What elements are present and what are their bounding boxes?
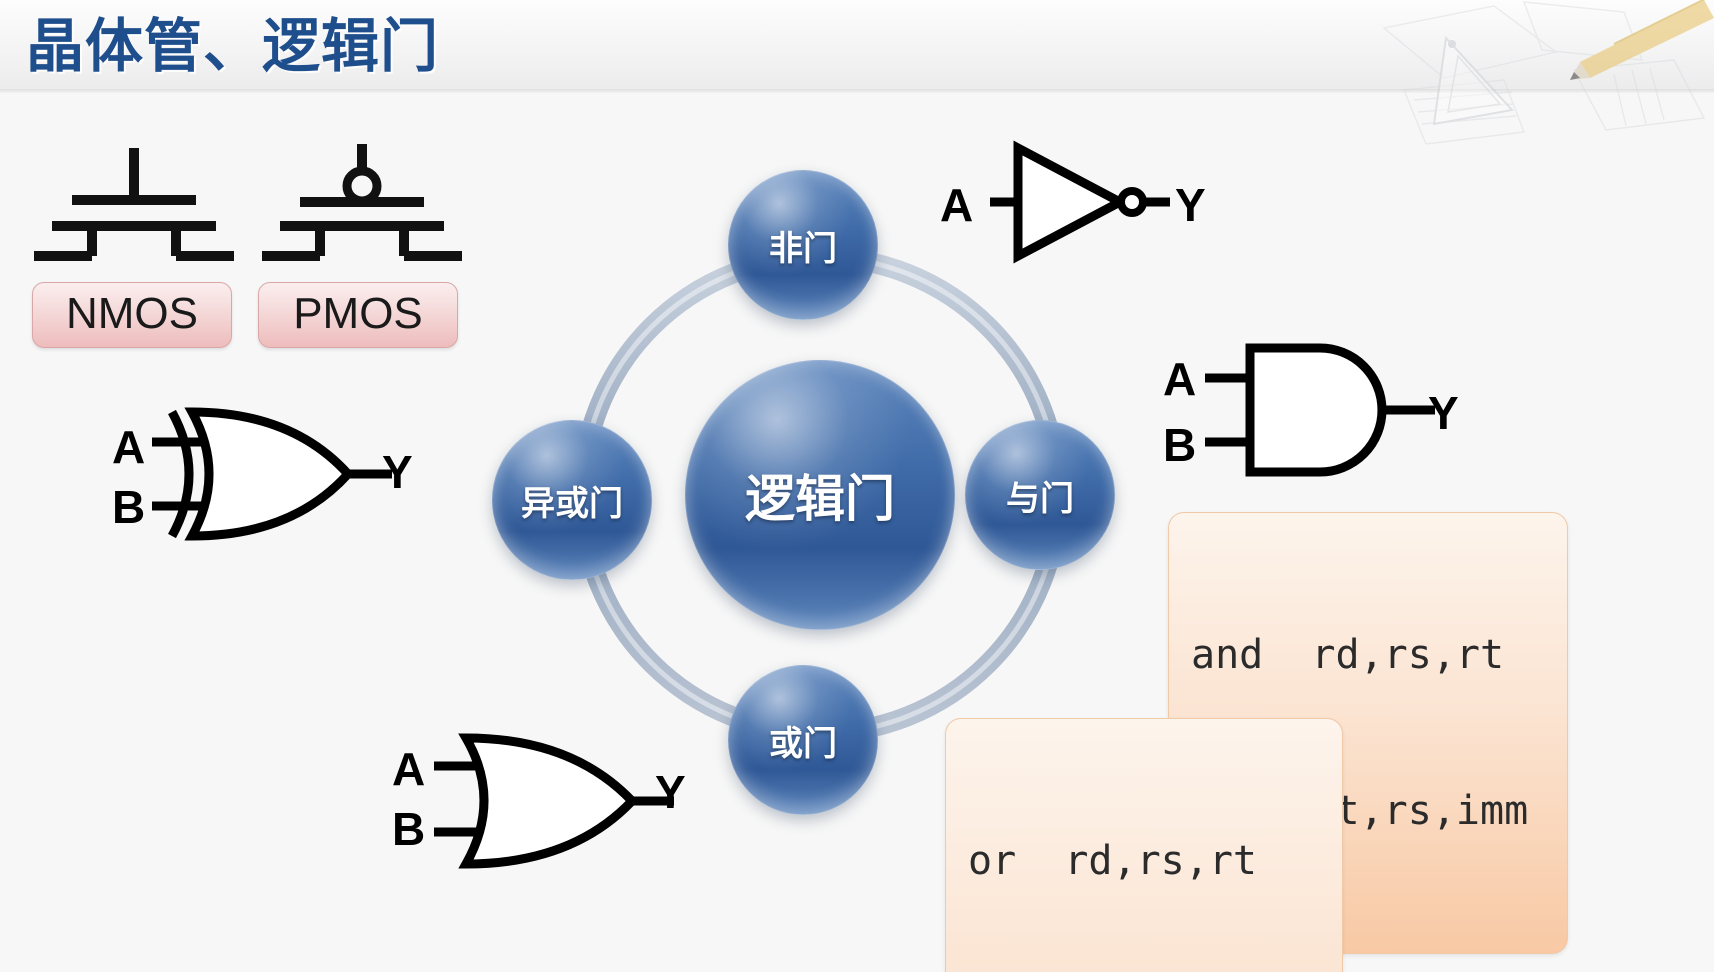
or-gate-output-y-label: Y — [655, 765, 686, 819]
nmos-label-chip: NMOS — [32, 282, 232, 348]
radial-node-not-label: 非门 — [769, 221, 837, 270]
xor-gate-input-a-label: A — [112, 420, 145, 474]
radial-node-not-gate[interactable]: 非门 — [728, 170, 878, 320]
not-gate-icon — [990, 140, 1170, 265]
xor-gate-input-b-label: B — [112, 480, 145, 534]
and-gate-input-a-label: A — [1163, 352, 1196, 406]
radial-node-or-label: 或门 — [769, 716, 837, 765]
radial-node-and-label: 与门 — [1006, 471, 1074, 520]
radial-node-xor-label: 异或门 — [521, 476, 623, 525]
not-gate-output-y-label: Y — [1175, 178, 1206, 232]
radial-node-or-gate[interactable]: 或门 — [728, 665, 878, 815]
xor-gate-output-y-label: Y — [382, 445, 413, 499]
pmos-label-chip: PMOS — [258, 282, 458, 348]
slide-header: 晶体管、逻辑门 — [0, 0, 1714, 92]
or-gate-icon — [434, 728, 674, 873]
not-gate-input-a-label: A — [940, 178, 973, 232]
or-gate-input-b-label: B — [392, 802, 425, 856]
and-gate-icon — [1205, 338, 1435, 488]
header-accent-rule — [0, 89, 1714, 93]
and-instruction-line-1: and rd,rs,rt — [1191, 629, 1545, 681]
pmos-transistor-symbol-icon — [258, 140, 468, 275]
slide-canvas: 晶体管、逻辑门 — [0, 0, 1714, 972]
radial-node-and-gate[interactable]: 与门 — [965, 420, 1115, 570]
or-instruction-box: or rd,rs,rt nor rd,rs,rt ori rt,rs,imm — [945, 718, 1343, 972]
or-instruction-line-1: or rd,rs,rt — [968, 835, 1320, 887]
radial-node-xor-gate[interactable]: 异或门 — [492, 420, 652, 580]
nmos-transistor-symbol-icon — [30, 140, 240, 275]
or-gate-input-a-label: A — [392, 742, 425, 796]
xor-gate-icon — [152, 404, 392, 544]
radial-center-node[interactable]: 逻辑门 — [685, 360, 955, 630]
and-gate-output-y-label: Y — [1428, 386, 1459, 440]
and-gate-input-b-label: B — [1163, 418, 1196, 472]
page-title: 晶体管、逻辑门 — [26, 2, 439, 90]
radial-center-label: 逻辑门 — [745, 459, 895, 531]
